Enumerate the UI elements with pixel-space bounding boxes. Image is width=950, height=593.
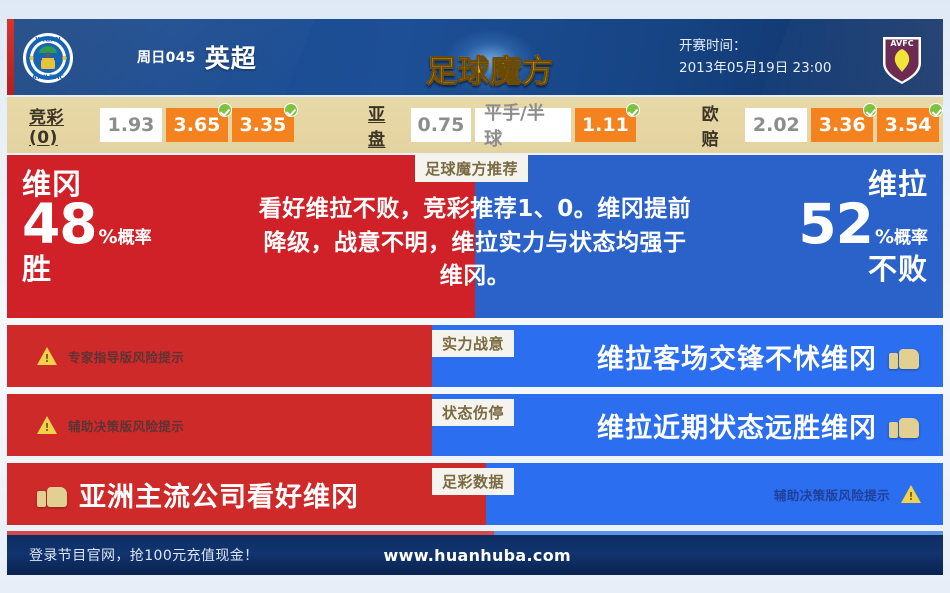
- kickoff-info: 开赛时间： 2013年05月19日 23:00: [679, 19, 831, 95]
- odds-group-yapan[interactable]: 亚盘 0.75 平手/半球 1.11: [368, 100, 640, 150]
- home-probability-value: 48: [22, 197, 97, 252]
- insight-text: 亚洲主流公司看好维冈: [79, 475, 359, 514]
- odds-value: 1.11: [582, 114, 629, 136]
- odds-cell[interactable]: 0.75: [411, 108, 471, 142]
- brand-logo: 足球魔方: [417, 44, 563, 92]
- odds-value: 3.65: [174, 114, 221, 136]
- odds-value: 3.54: [885, 114, 932, 136]
- odds-cell-handicap[interactable]: 平手/半球: [475, 108, 571, 142]
- odds-group-label: 亚盘: [368, 100, 400, 150]
- odds-value: 3.36: [819, 114, 866, 136]
- probability-unit: 概率: [894, 223, 928, 248]
- odds-group-jingcai[interactable]: 竞彩(0) 1.93 3.65 3.35: [29, 103, 298, 148]
- info-row-left-warning: 辅助决策版风险提示: [7, 394, 432, 456]
- odds-group-oupei[interactable]: 欧赔 2.02 3.36 3.54: [702, 100, 943, 150]
- info-row-right-warning: 辅助决策版风险提示: [486, 463, 943, 525]
- section-tab-lottery-data: 足彩数据: [432, 468, 514, 495]
- thumbs-up-icon: [889, 343, 919, 369]
- risk-notice-text: 辅助决策版风险提示: [774, 485, 890, 504]
- odds-value: 3.35: [240, 114, 287, 136]
- insight-text: 维拉客场交锋不怵维冈: [597, 337, 877, 376]
- match-number: 周日045: [137, 47, 196, 67]
- header-accent-stripe: [7, 19, 14, 95]
- odds-cell[interactable]: 3.36: [811, 108, 873, 142]
- brand-logo-text: 足球魔方: [426, 46, 554, 91]
- risk-notice-text: 专家指导版风险提示: [68, 347, 184, 366]
- away-outcome-label: 不败: [718, 254, 928, 284]
- footer-bar: 登录节目官网，抢100元充值现金！ www.huanhuba.com: [7, 535, 943, 575]
- recommendation-text: 看好维拉不败，竞彩推荐1、0。维冈提前降级，战意不明，维拉实力与状态均强于维冈。: [255, 179, 695, 293]
- check-badge-icon: [929, 103, 943, 117]
- wigan-athletic-crest-icon: WIGAN ATHLETIC: [22, 32, 74, 84]
- match-preview-card: WIGAN ATHLETIC 周日045 英超 足球魔方 开赛时间： 2013年…: [0, 0, 950, 593]
- check-badge-icon: [863, 103, 877, 117]
- percent-sign: %: [99, 226, 118, 248]
- match-info: 周日045 英超: [137, 19, 257, 95]
- probability-unit: 概率: [118, 223, 152, 248]
- info-row-left-claim: 亚洲主流公司看好维冈: [7, 463, 486, 525]
- kickoff-label: 开赛时间：: [679, 38, 831, 54]
- odds-group-label: 欧赔: [702, 100, 735, 150]
- kickoff-time: 2013年05月19日 23:00: [679, 60, 831, 76]
- warning-triangle-icon: [37, 416, 57, 434]
- section-tab-strength: 实力战意: [432, 330, 514, 357]
- percent-sign: %: [875, 226, 894, 248]
- odds-cell[interactable]: 3.65: [166, 108, 228, 142]
- odds-value: 平手/半球: [484, 99, 562, 151]
- odds-value: 1.93: [108, 114, 155, 136]
- odds-cell[interactable]: 3.35: [232, 108, 294, 142]
- odds-bar: 竞彩(0) 1.93 3.65 3.35 亚盘 0.75 平手/半球 1.11: [7, 97, 943, 153]
- footer-promo-text: 登录节目官网，抢100元充值现金！: [7, 545, 259, 565]
- warning-triangle-icon: [37, 347, 57, 365]
- odds-value: 2.02: [753, 114, 800, 136]
- odds-cell[interactable]: 3.54: [877, 108, 939, 142]
- risk-notice-text: 辅助决策版风险提示: [68, 416, 184, 435]
- section-tab-recommendation: 足球魔方推荐: [415, 155, 528, 182]
- odds-value: 0.75: [417, 114, 464, 136]
- check-badge-icon: [284, 103, 298, 117]
- home-outcome-label: 胜: [22, 254, 232, 284]
- away-probability-value: 52: [798, 197, 873, 252]
- footer-website-url[interactable]: www.huanhuba.com: [384, 546, 571, 565]
- odds-cell[interactable]: 2.02: [745, 108, 807, 142]
- svg-text:WIGAN: WIGAN: [35, 36, 60, 44]
- thumbs-up-icon: [37, 481, 67, 507]
- odds-cell[interactable]: 1.11: [575, 108, 635, 142]
- insight-text: 维拉近期状态远胜维冈: [597, 406, 877, 445]
- header-bar: WIGAN ATHLETIC 周日045 英超 足球魔方 开赛时间： 2013年…: [7, 19, 943, 95]
- away-probability-block: 维拉 52 % 概率 不败: [718, 155, 943, 318]
- check-badge-icon: [218, 103, 232, 117]
- svg-text:AVFC: AVFC: [890, 39, 913, 48]
- warning-triangle-icon: [901, 485, 921, 503]
- info-row-left-warning: 专家指导版风险提示: [7, 325, 432, 387]
- home-probability-block: 维冈 48 % 概率 胜: [7, 155, 232, 318]
- check-badge-icon: [626, 103, 640, 117]
- aston-villa-crest-icon: AVFC: [876, 32, 928, 84]
- section-tab-form: 状态伤停: [432, 399, 514, 426]
- svg-text:ATHLETIC: ATHLETIC: [32, 74, 65, 81]
- thumbs-up-icon: [889, 412, 919, 438]
- odds-group-label: 竞彩(0): [29, 103, 89, 148]
- league-name: 英超: [205, 39, 257, 75]
- odds-cell[interactable]: 1.93: [100, 108, 162, 142]
